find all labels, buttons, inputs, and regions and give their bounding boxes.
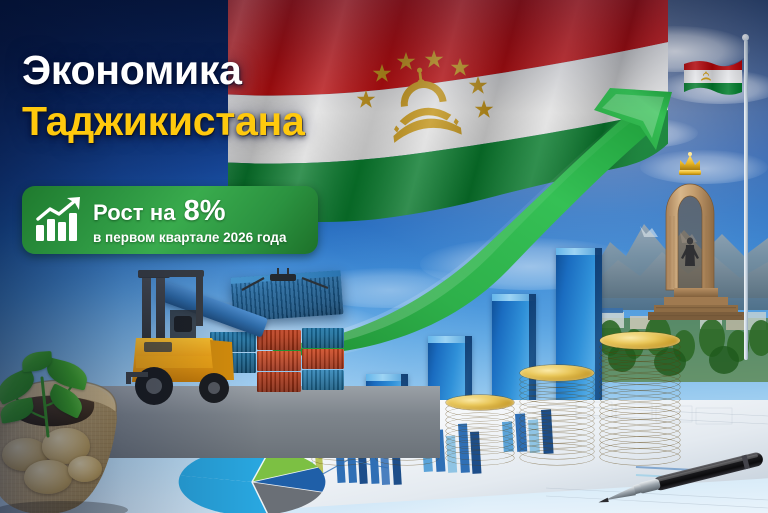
coin-stack-5 [600,321,680,465]
growth-label: Рост на [93,200,176,226]
page-title-line2: Таджикистана [22,101,442,142]
tajikistan-flag-small [680,58,742,104]
page-title-line1: Экономика [22,50,442,91]
ballpoint-pen [588,452,768,508]
growth-value: 8% [184,195,226,228]
poster-canvas: Экономика Таджикистана Рост на 8% в перв… [0,0,768,513]
growth-period: в первом квартале 2026 года [93,230,306,245]
flagpole-rod [744,40,748,360]
flagpole [742,30,748,360]
badge-text-block: Рост на 8% в первом квартале 2026 года [93,195,306,245]
burlap-sack-with-potatoes [0,360,182,513]
headline-block: Экономика Таджикистана [22,50,442,142]
growth-badge: Рост на 8% в первом квартале 2026 года [22,186,318,254]
coin-stack-3 [446,387,514,465]
bar-chart-rising-arrow-icon [34,197,86,243]
coin-stack-4 [520,355,594,465]
badge-headline-row: Рост на 8% [93,195,306,228]
